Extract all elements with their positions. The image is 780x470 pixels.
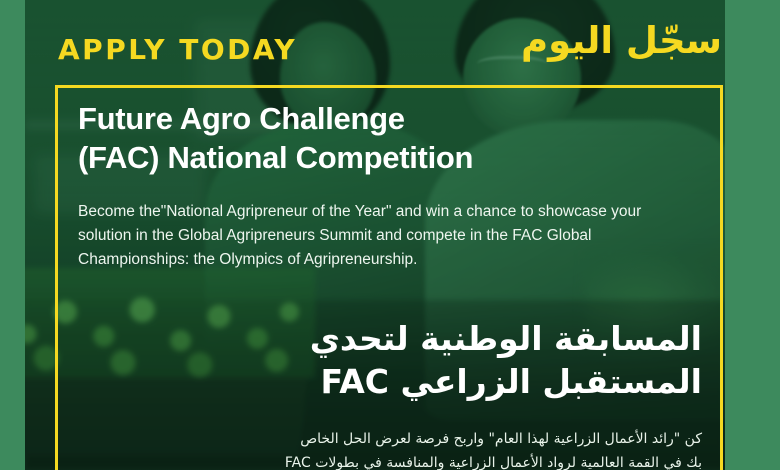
arabic-description: كن "رائد الأعمال الزراعية لهذا العام" وا… xyxy=(102,428,702,470)
arabic-title-line-2: المستقبل الزراعي FAC xyxy=(102,361,702,404)
english-title-line-2: (FAC) National Competition xyxy=(78,139,678,178)
arabic-title: المسابقة الوطنية لتحدي المستقبل الزراعي … xyxy=(102,318,702,404)
left-green-band xyxy=(0,0,25,470)
arabic-description-line-1: كن "رائد الأعمال الزراعية لهذا العام" وا… xyxy=(102,428,702,452)
english-title-line-1: Future Agro Challenge xyxy=(78,100,678,139)
right-green-band xyxy=(725,0,780,470)
arabic-description-line-2: بك في القمة العالمية لرواد الأعمال الزرا… xyxy=(102,452,702,470)
apply-today-label[interactable]: APPLY TODAY xyxy=(58,33,297,66)
english-description: Become the"National Agripreneur of the Y… xyxy=(78,200,658,272)
english-title: Future Agro Challenge (FAC) National Com… xyxy=(78,100,678,178)
arabic-title-line-1: المسابقة الوطنية لتحدي xyxy=(102,318,702,361)
promo-poster: APPLY TODAY سجّل اليوم Future Agro Chall… xyxy=(0,0,780,470)
apply-today-label-arabic[interactable]: سجّل اليوم xyxy=(521,22,722,59)
